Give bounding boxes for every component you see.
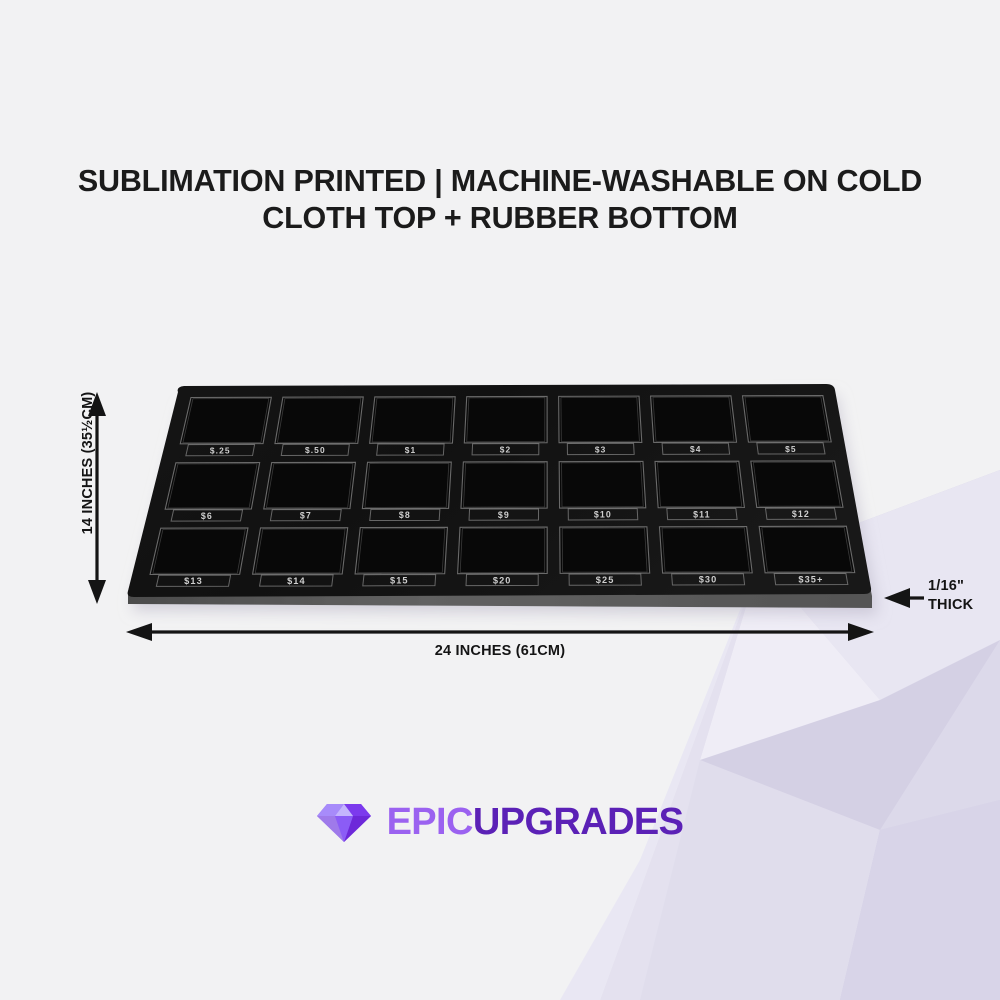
logo-wordmark: EPICUPGRADES bbox=[387, 803, 684, 841]
gem-icon bbox=[317, 800, 371, 844]
logo-text-epic: EPIC bbox=[387, 801, 473, 843]
mousepad-illustration: $.25$.50$1$2$3$4$5$6$7$8$9$10$11$12$13$1… bbox=[0, 0, 1000, 1000]
mat-cell-label: $14 bbox=[287, 576, 306, 586]
mat-cell-label: $10 bbox=[594, 510, 612, 520]
mat-cell-label: $5 bbox=[785, 444, 797, 454]
mat-cell-label: $.25 bbox=[210, 445, 231, 455]
mat-cell bbox=[559, 396, 642, 443]
mat-cell-label: $6 bbox=[201, 511, 213, 521]
mat-cell bbox=[355, 527, 447, 574]
mat-cell-label: $20 bbox=[493, 575, 512, 585]
mat-cell-label: $.50 bbox=[305, 445, 326, 455]
mat-cell-label: $13 bbox=[184, 576, 203, 586]
mat-cell-label: $4 bbox=[690, 444, 702, 454]
dimension-label-height: 14 INCHES (35½CM) bbox=[80, 373, 96, 553]
mat-cell bbox=[743, 396, 832, 443]
mat-cell-label: $35+ bbox=[798, 574, 823, 584]
mat-cell-label: $25 bbox=[596, 575, 615, 585]
logo-text-upgrades: UPGRADES bbox=[473, 801, 684, 843]
mat-cell bbox=[659, 526, 752, 573]
mat-cell-label: $1 bbox=[405, 445, 417, 455]
mat-cell bbox=[655, 461, 744, 508]
mat-cell bbox=[275, 397, 363, 444]
mat-cell bbox=[180, 397, 271, 444]
mat-cell bbox=[464, 396, 547, 443]
mat-cell-label: $30 bbox=[699, 575, 718, 585]
mat-cell bbox=[165, 463, 259, 510]
mat-cell-label: $11 bbox=[693, 509, 711, 519]
mat-cell-label: $7 bbox=[300, 511, 312, 521]
mat-cell bbox=[751, 461, 843, 508]
mat-cell bbox=[461, 462, 547, 509]
mat-cell bbox=[560, 527, 650, 574]
mat-cell bbox=[370, 397, 456, 444]
mat-cell bbox=[150, 528, 248, 575]
mat-cell bbox=[651, 396, 737, 443]
dimension-arrow-thickness bbox=[884, 588, 924, 608]
mat-cell bbox=[362, 462, 451, 509]
mat-cell-label: $3 bbox=[595, 444, 607, 454]
mat-cell-label: $12 bbox=[792, 509, 810, 519]
headline-line-1: SUBLIMATION PRINTED | MACHINE-WASHABLE O… bbox=[0, 163, 1000, 200]
thickness-value: 1/16" bbox=[928, 577, 973, 596]
mat-cell-label: $8 bbox=[399, 510, 411, 520]
mat-cell-label: $2 bbox=[500, 445, 512, 455]
headline: SUBLIMATION PRINTED | MACHINE-WASHABLE O… bbox=[0, 163, 1000, 237]
mat-cell bbox=[559, 461, 646, 508]
dimension-label-thickness: 1/16" THICK bbox=[928, 577, 973, 615]
mat-cell bbox=[264, 462, 356, 509]
mat-cell bbox=[253, 528, 348, 575]
headline-line-2: CLOTH TOP + RUBBER BOTTOM bbox=[0, 200, 1000, 237]
mat-cell-label: $9 bbox=[498, 510, 510, 520]
mat-cell-label: $15 bbox=[390, 576, 409, 586]
mat-cell bbox=[759, 526, 855, 573]
thickness-unit: THICK bbox=[928, 596, 973, 615]
dimension-arrow-width bbox=[126, 623, 874, 641]
mat-cell bbox=[458, 527, 548, 574]
dimension-label-width: 24 INCHES (61CM) bbox=[300, 643, 700, 659]
brand-logo: EPICUPGRADES bbox=[0, 800, 1000, 844]
